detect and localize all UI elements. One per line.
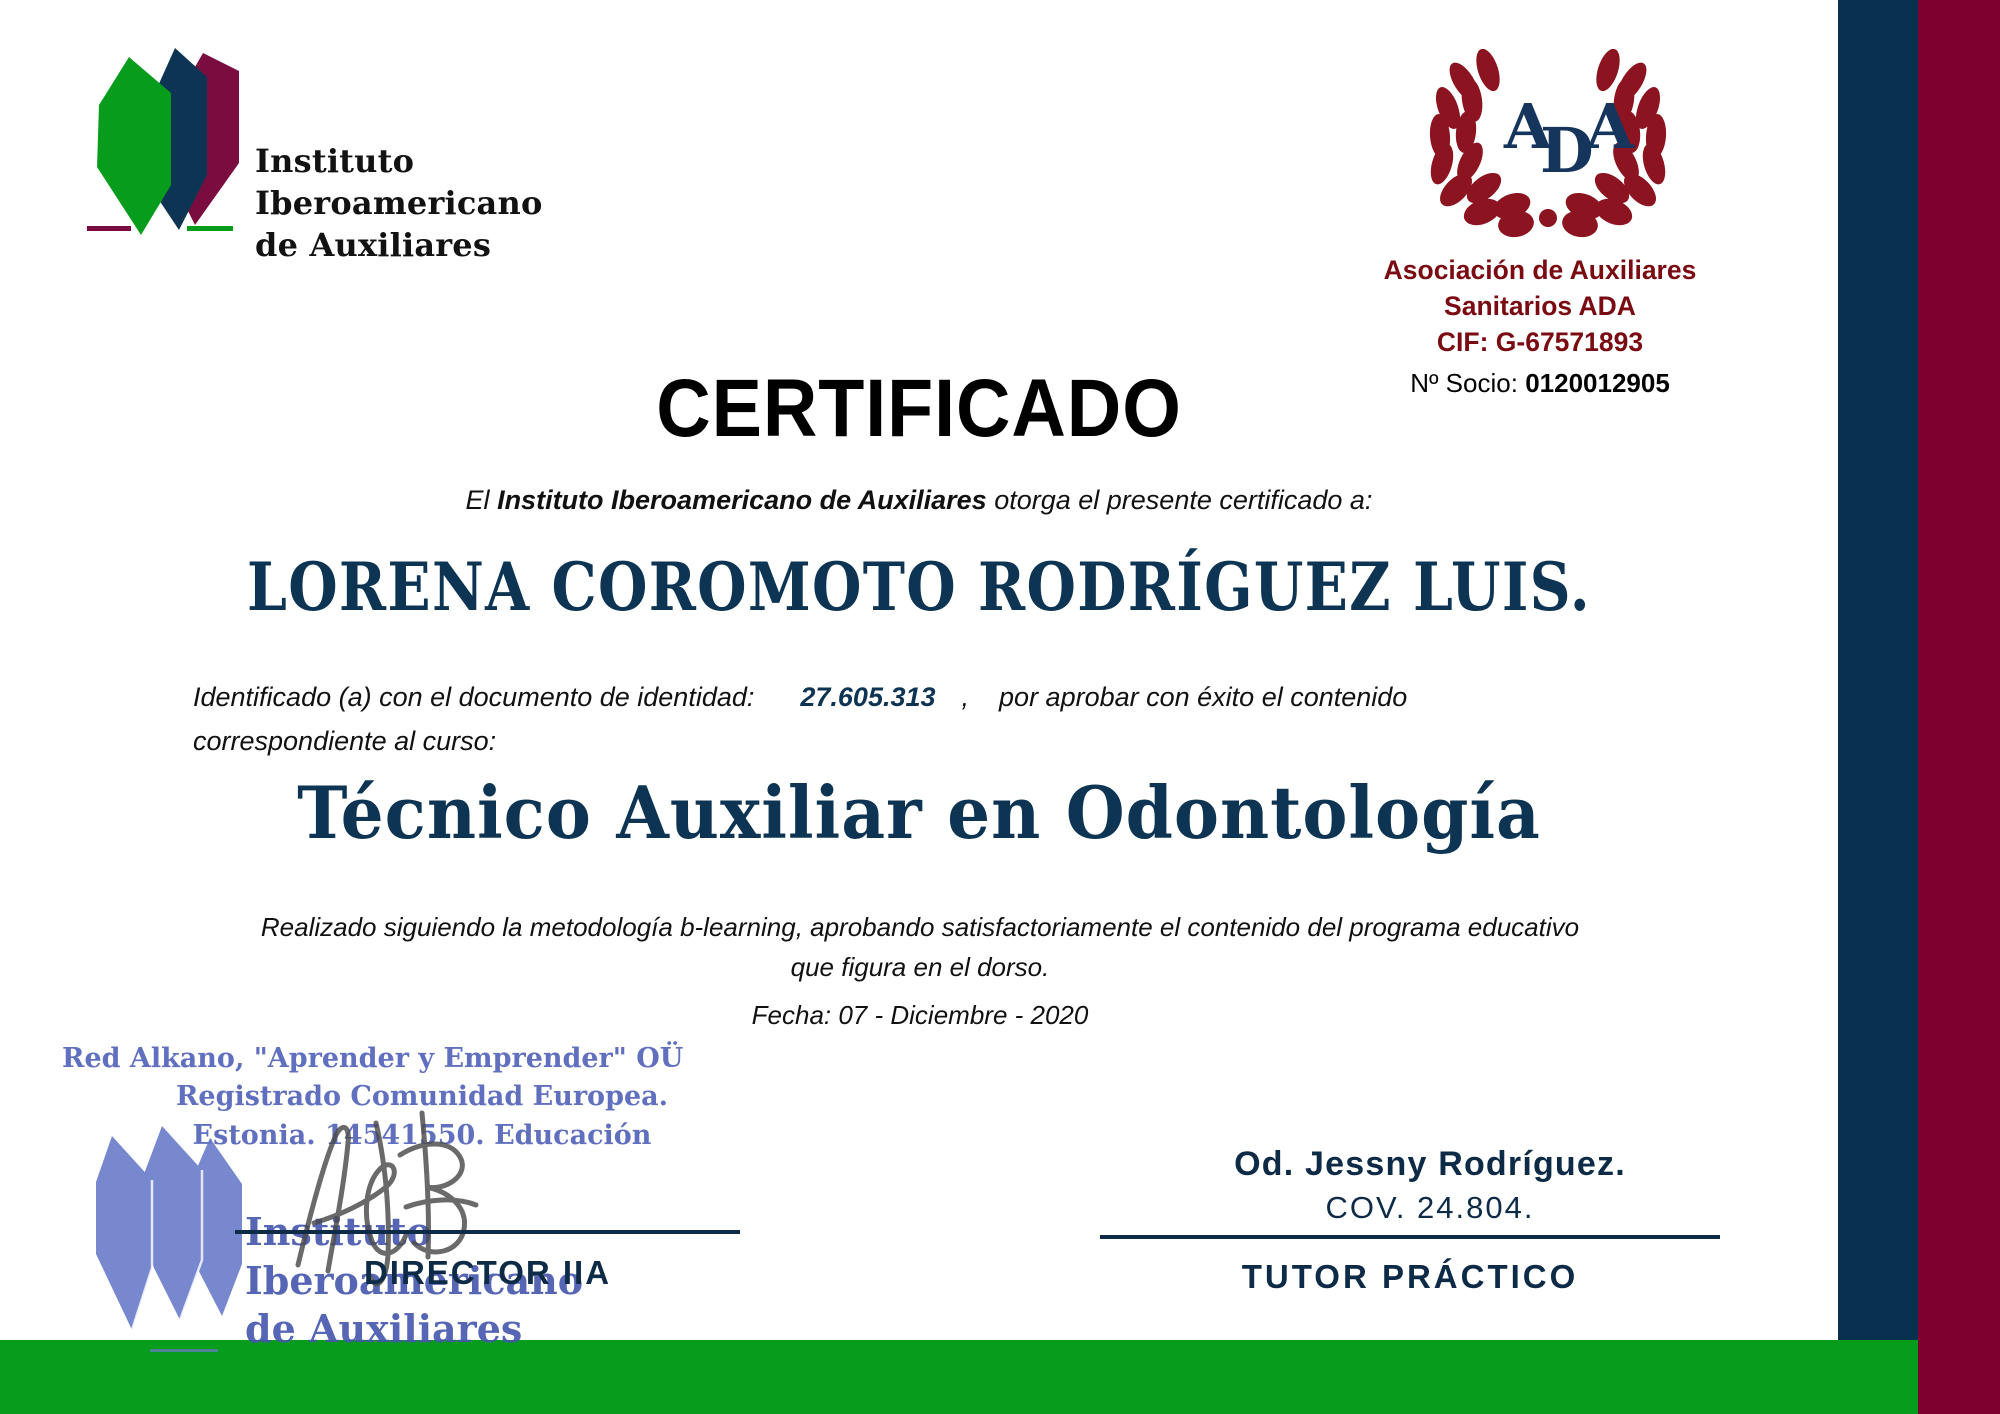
issue-date: Fecha: 07 - Diciembre - 2020 [255, 1000, 1585, 1031]
institute-wordmark: Instituto Iberoamericano de Auxiliares [255, 140, 615, 267]
identity-block: Identificado (a) con el documento de ide… [193, 676, 1593, 763]
svg-text:D: D [1540, 114, 1594, 187]
course-title: Técnico Auxiliar en Odontología [55, 770, 1783, 855]
student-name: LORENA COROMOTO RODRÍGUEZ LUIS. [129, 548, 1710, 626]
tutor-name: Od. Jessny Rodríguez. [1100, 1145, 1760, 1184]
grant-statement: El Instituto Iberoamericano de Auxiliare… [0, 485, 1838, 516]
grant-institute-name: Instituto Iberoamericano de Auxiliares [497, 485, 987, 515]
tutor-signature-line [1100, 1235, 1720, 1239]
identity-number: 27.605.313 [800, 682, 935, 712]
right-edge-maroon-bar [1918, 0, 2000, 1414]
identity-label: Identificado (a) con el documento de ide… [193, 682, 754, 712]
ada-laurel-wreath-logo-icon: A A D [1408, 40, 1688, 240]
methodology-text: Realizado siguiendo la metodología b-lea… [255, 908, 1585, 987]
institute-wordmark-line-2: Iberoamericano [255, 182, 615, 224]
methodology-line-1: Realizado siguiendo la metodología b-lea… [261, 912, 1461, 942]
iia-three-petal-logo-icon [75, 35, 255, 240]
ada-name-line-1: Asociación de Auxiliares [1330, 252, 1750, 288]
tutor-role-label: TUTOR PRÁCTICO [1100, 1258, 1720, 1296]
tutor-license-number: COV. 24.804. [1100, 1190, 1760, 1226]
stamp-wordmark-line-3: de Auxiliares [245, 1305, 665, 1354]
ada-association-name: Asociación de Auxiliares Sanitarios ADA … [1330, 252, 1750, 360]
page-title: CERTIFICADO [74, 362, 1765, 456]
institute-wordmark-line-1: Instituto [255, 140, 615, 182]
grant-suffix: otorga el presente certificado a: [987, 485, 1373, 515]
estonia-stamp-line-1: Red Alkano, "Aprender y Emprender" OÜ [62, 1040, 722, 1078]
ada-name-line-2: Sanitarios ADA [1330, 288, 1750, 324]
stamp-logo-underline [150, 1349, 218, 1352]
institute-wordmark-line-3: de Auxiliares [255, 224, 615, 266]
certificate-page: Instituto Iberoamericano de Auxiliares [0, 0, 2000, 1414]
director-role-label: DIRECTOR IIA [235, 1254, 740, 1292]
identity-tail: por aprobar con éxito el contenido [999, 682, 1407, 712]
identity-comma: , [962, 682, 970, 712]
ada-cif: CIF: G-67571893 [1330, 324, 1750, 360]
right-edge-navy-bar [1838, 0, 1918, 1414]
grant-prefix: El [466, 485, 498, 515]
director-signature-line [235, 1230, 740, 1234]
identity-line-2: correspondiente al curso: [193, 726, 496, 756]
iia-three-petal-stamp-icon [90, 1108, 245, 1368]
